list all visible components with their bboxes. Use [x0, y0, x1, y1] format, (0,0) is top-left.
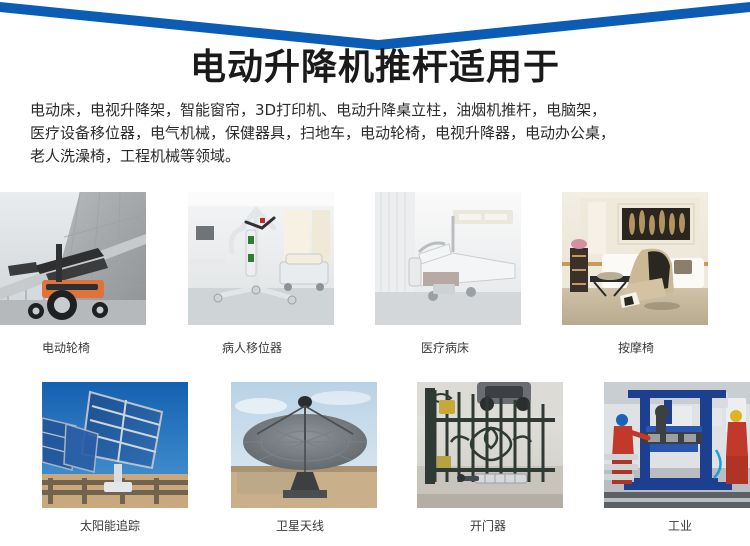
gate-opener-photo	[417, 382, 563, 508]
gallery-item: 卫星天线	[231, 382, 377, 533]
gallery-caption: 工业	[604, 519, 750, 533]
electric-wheelchair-photo	[0, 192, 146, 325]
description-paragraph: 电动床，电视升降架，智能窗帘，3D打印机、电动升降桌立柱，油烟机推杆，电脑架， …	[30, 99, 730, 168]
description-line-3: 老人洗澡椅，工程机械等领域。	[30, 145, 730, 168]
gallery-row-2: 太阳能追踪	[0, 382, 750, 542]
industrial-machine-photo	[604, 382, 750, 508]
satellite-dish-photo	[231, 382, 377, 508]
description-line-2: 医疗设备移位器，电气机械，保健器具，扫地车，电动轮椅，电视升降器，电动办公桌，	[30, 122, 730, 145]
gallery-item: 病人移位器	[188, 192, 334, 355]
gallery-item: 电动轮椅	[0, 192, 146, 355]
gallery-caption: 病人移位器	[188, 341, 334, 355]
chevron-down-icon	[0, 0, 750, 52]
gallery-caption: 卫星天线	[231, 519, 377, 533]
gallery-caption: 电动轮椅	[0, 341, 146, 355]
gallery-item: 医疗病床	[375, 192, 521, 355]
promo-banner-page: 电动升降机推杆适用于 电动床，电视升降架，智能窗帘，3D打印机、电动升降桌立柱，…	[0, 0, 750, 546]
gallery-caption: 医疗病床	[375, 341, 521, 355]
patient-lift-photo	[188, 192, 334, 325]
hospital-bed-photo	[375, 192, 521, 325]
description-line-1: 电动床，电视升降架，智能窗帘，3D打印机、电动升降桌立柱，油烟机推杆，电脑架，	[30, 99, 730, 122]
page-title: 电动升降机推杆适用于	[0, 46, 750, 90]
solar-tracker-photo	[42, 382, 188, 508]
massage-chair-photo	[562, 192, 708, 325]
gallery-caption: 按摩椅	[562, 341, 708, 355]
gallery-item: 太阳能追踪	[42, 382, 188, 533]
gallery-item: 按摩椅	[562, 192, 708, 355]
gallery-item: 开门器	[417, 382, 563, 533]
gallery-row-1: 电动轮椅	[0, 192, 750, 352]
gallery-caption: 开门器	[417, 519, 563, 533]
gallery-item: 工业	[604, 382, 750, 533]
gallery-caption: 太阳能追踪	[42, 519, 188, 533]
